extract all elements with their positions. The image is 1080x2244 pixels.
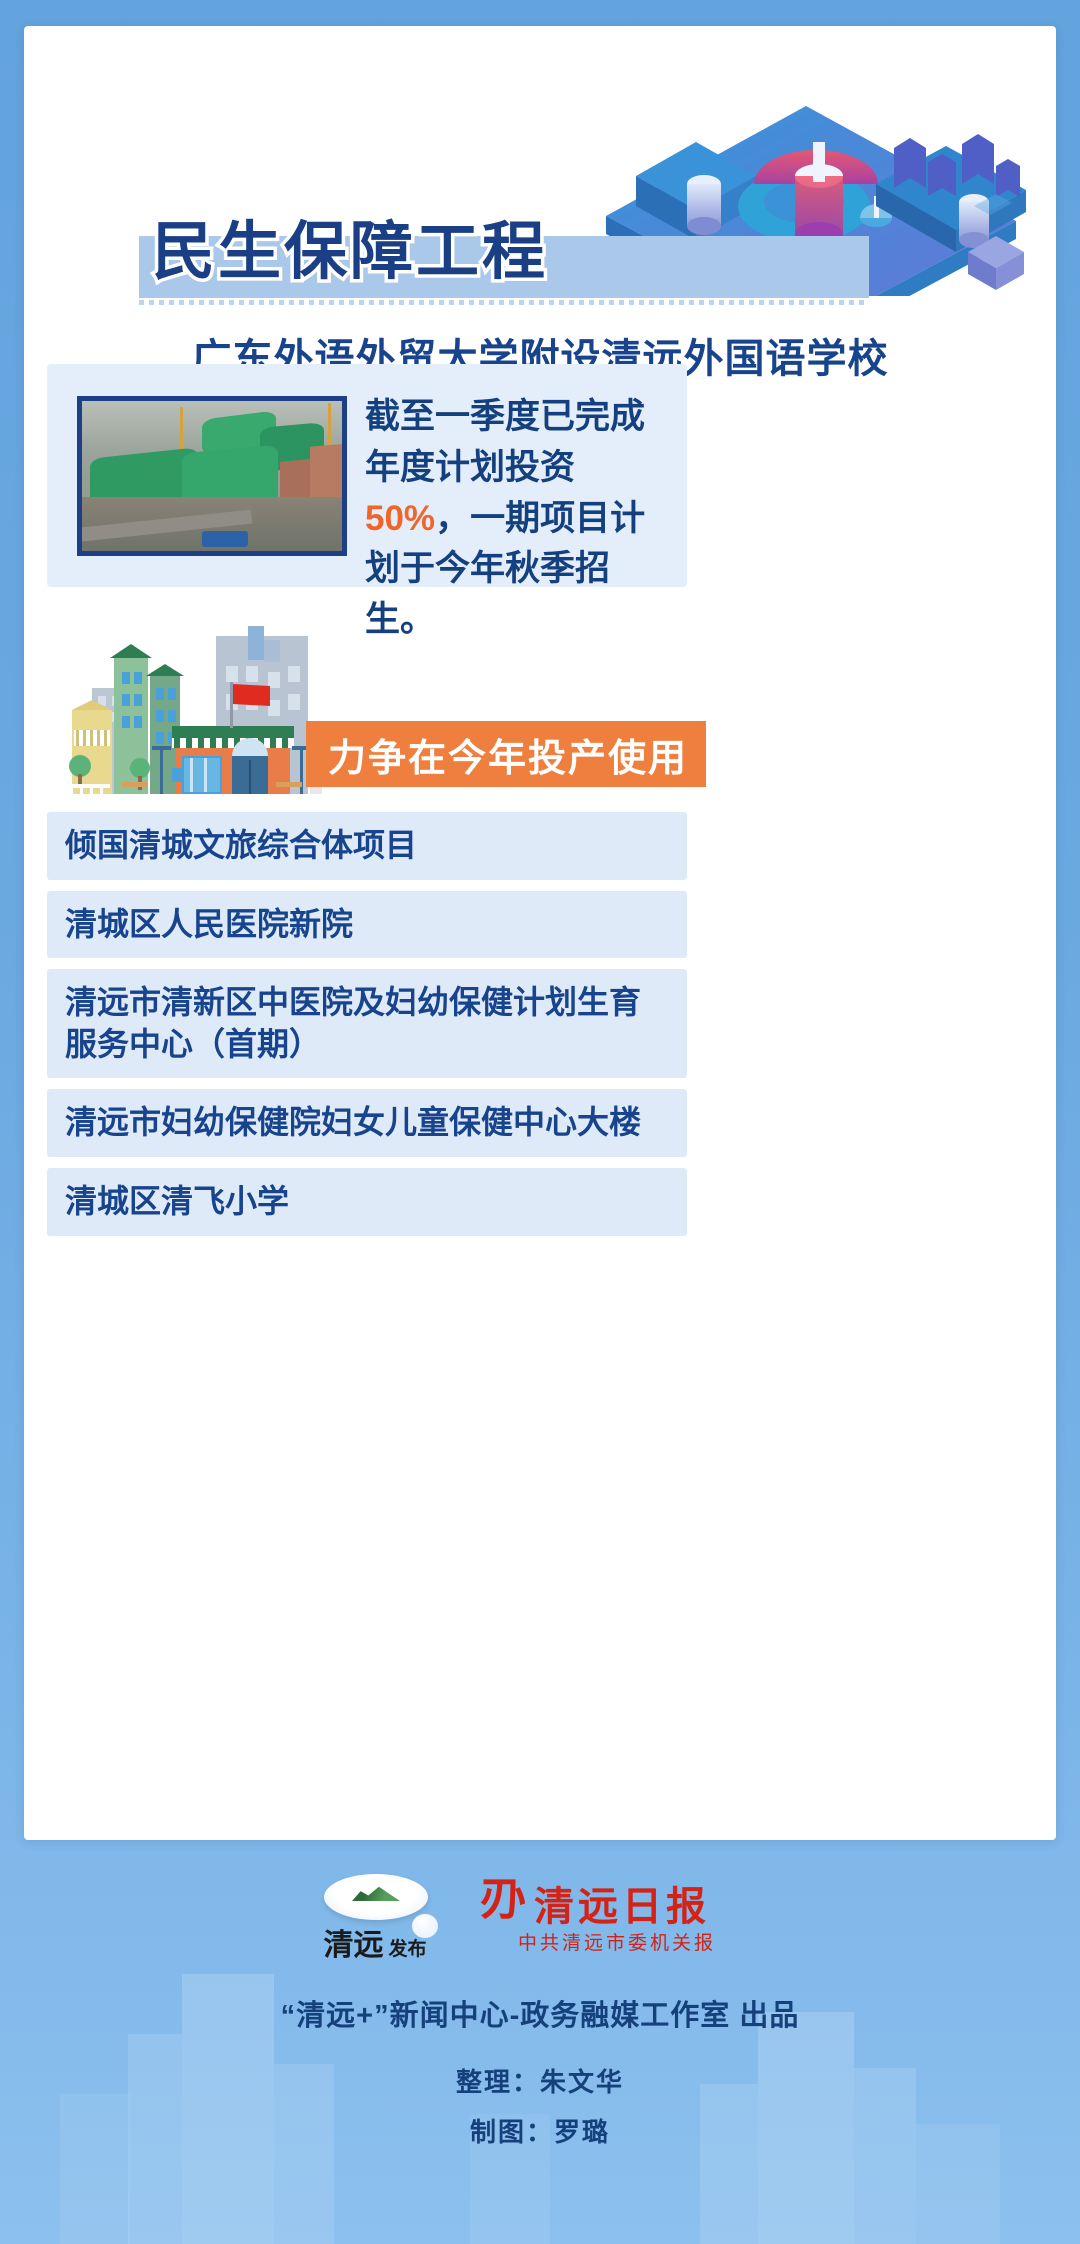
qingyuan-release-logo: 清远发布	[300, 1872, 450, 1964]
mountain-bowl-icon	[324, 1874, 428, 1920]
construction-photo	[77, 396, 347, 556]
progress-text-before: 截至一季度已完成年度计划投资	[365, 397, 645, 487]
daily-subtitle: 中共清远市委机关报	[518, 1928, 716, 1955]
footer: 清远发布 刅 清远日报 中共清远市委机关报 “清远+”新闻中心-政务融媒工作室 …	[0, 1840, 1080, 2244]
qingyuan-daily-logo: 刅 清远日报 中共清远市委机关报	[480, 1872, 780, 1964]
progress-highlight: 50%	[365, 499, 435, 538]
qingyuan-logo-text: 清远发布	[300, 1920, 450, 1964]
release-word: 发布	[388, 1939, 426, 1960]
poster-root: 民生保障工程 广东外语外贸大学附设清远外国语学校 截至一季度已完成年度计划投资5…	[0, 0, 1080, 2244]
qingyuan-word: 清远	[323, 1929, 383, 1962]
school-info-card: 截至一季度已完成年度计划投资50%，一期项目计划于今年秋季招生。	[47, 364, 687, 587]
list-item[interactable]: 清城区清飞小学	[47, 1168, 687, 1236]
designer-credit: 制图：罗璐	[0, 2112, 1080, 2149]
daily-mark-icon: 刅	[480, 1876, 526, 1924]
editor-credit: 整理：朱文华	[0, 2062, 1080, 2099]
project-label: 清城区清飞小学	[65, 1181, 669, 1223]
footer-logos: 清远发布 刅 清远日报 中共清远市委机关报	[0, 1872, 1080, 1964]
project-label: 清远市妇幼保健院妇女儿童保健中心大楼	[65, 1102, 669, 1144]
project-list: 倾国清城文旅综合体项目 清城区人民医院新院 清远市清新区中医院及妇幼保健计划生育…	[47, 812, 687, 1247]
content-sheet: 民生保障工程 广东外语外贸大学附设清远外国语学校 截至一季度已完成年度计划投资5…	[24, 26, 1056, 1840]
hero-header: 民生保障工程	[24, 26, 1056, 326]
highlight-banner-label: 力争在今年投产使用	[328, 727, 688, 782]
list-item[interactable]: 清远市清新区中医院及妇幼保健计划生育服务中心（首期）	[47, 969, 687, 1078]
list-item[interactable]: 倾国清城文旅综合体项目	[47, 812, 687, 880]
list-item[interactable]: 清城区人民医院新院	[47, 891, 687, 959]
page-title: 民生保障工程	[152, 201, 548, 292]
daily-title: 清远日报	[534, 1874, 710, 1932]
list-item[interactable]: 清远市妇幼保健院妇女儿童保健中心大楼	[47, 1089, 687, 1157]
project-label: 清远市清新区中医院及妇幼保健计划生育服务中心（首期）	[65, 982, 669, 1065]
project-label: 清城区人民医院新院	[65, 904, 669, 946]
project-label: 倾国清城文旅综合体项目	[65, 825, 669, 867]
school-progress-text: 截至一季度已完成年度计划投资50%，一期项目计划于今年秋季招生。	[365, 392, 665, 646]
highlight-banner: 力争在今年投产使用	[306, 721, 706, 787]
producer-credit: “清远+”新闻中心-政务融媒工作室 出品	[0, 1992, 1080, 2034]
